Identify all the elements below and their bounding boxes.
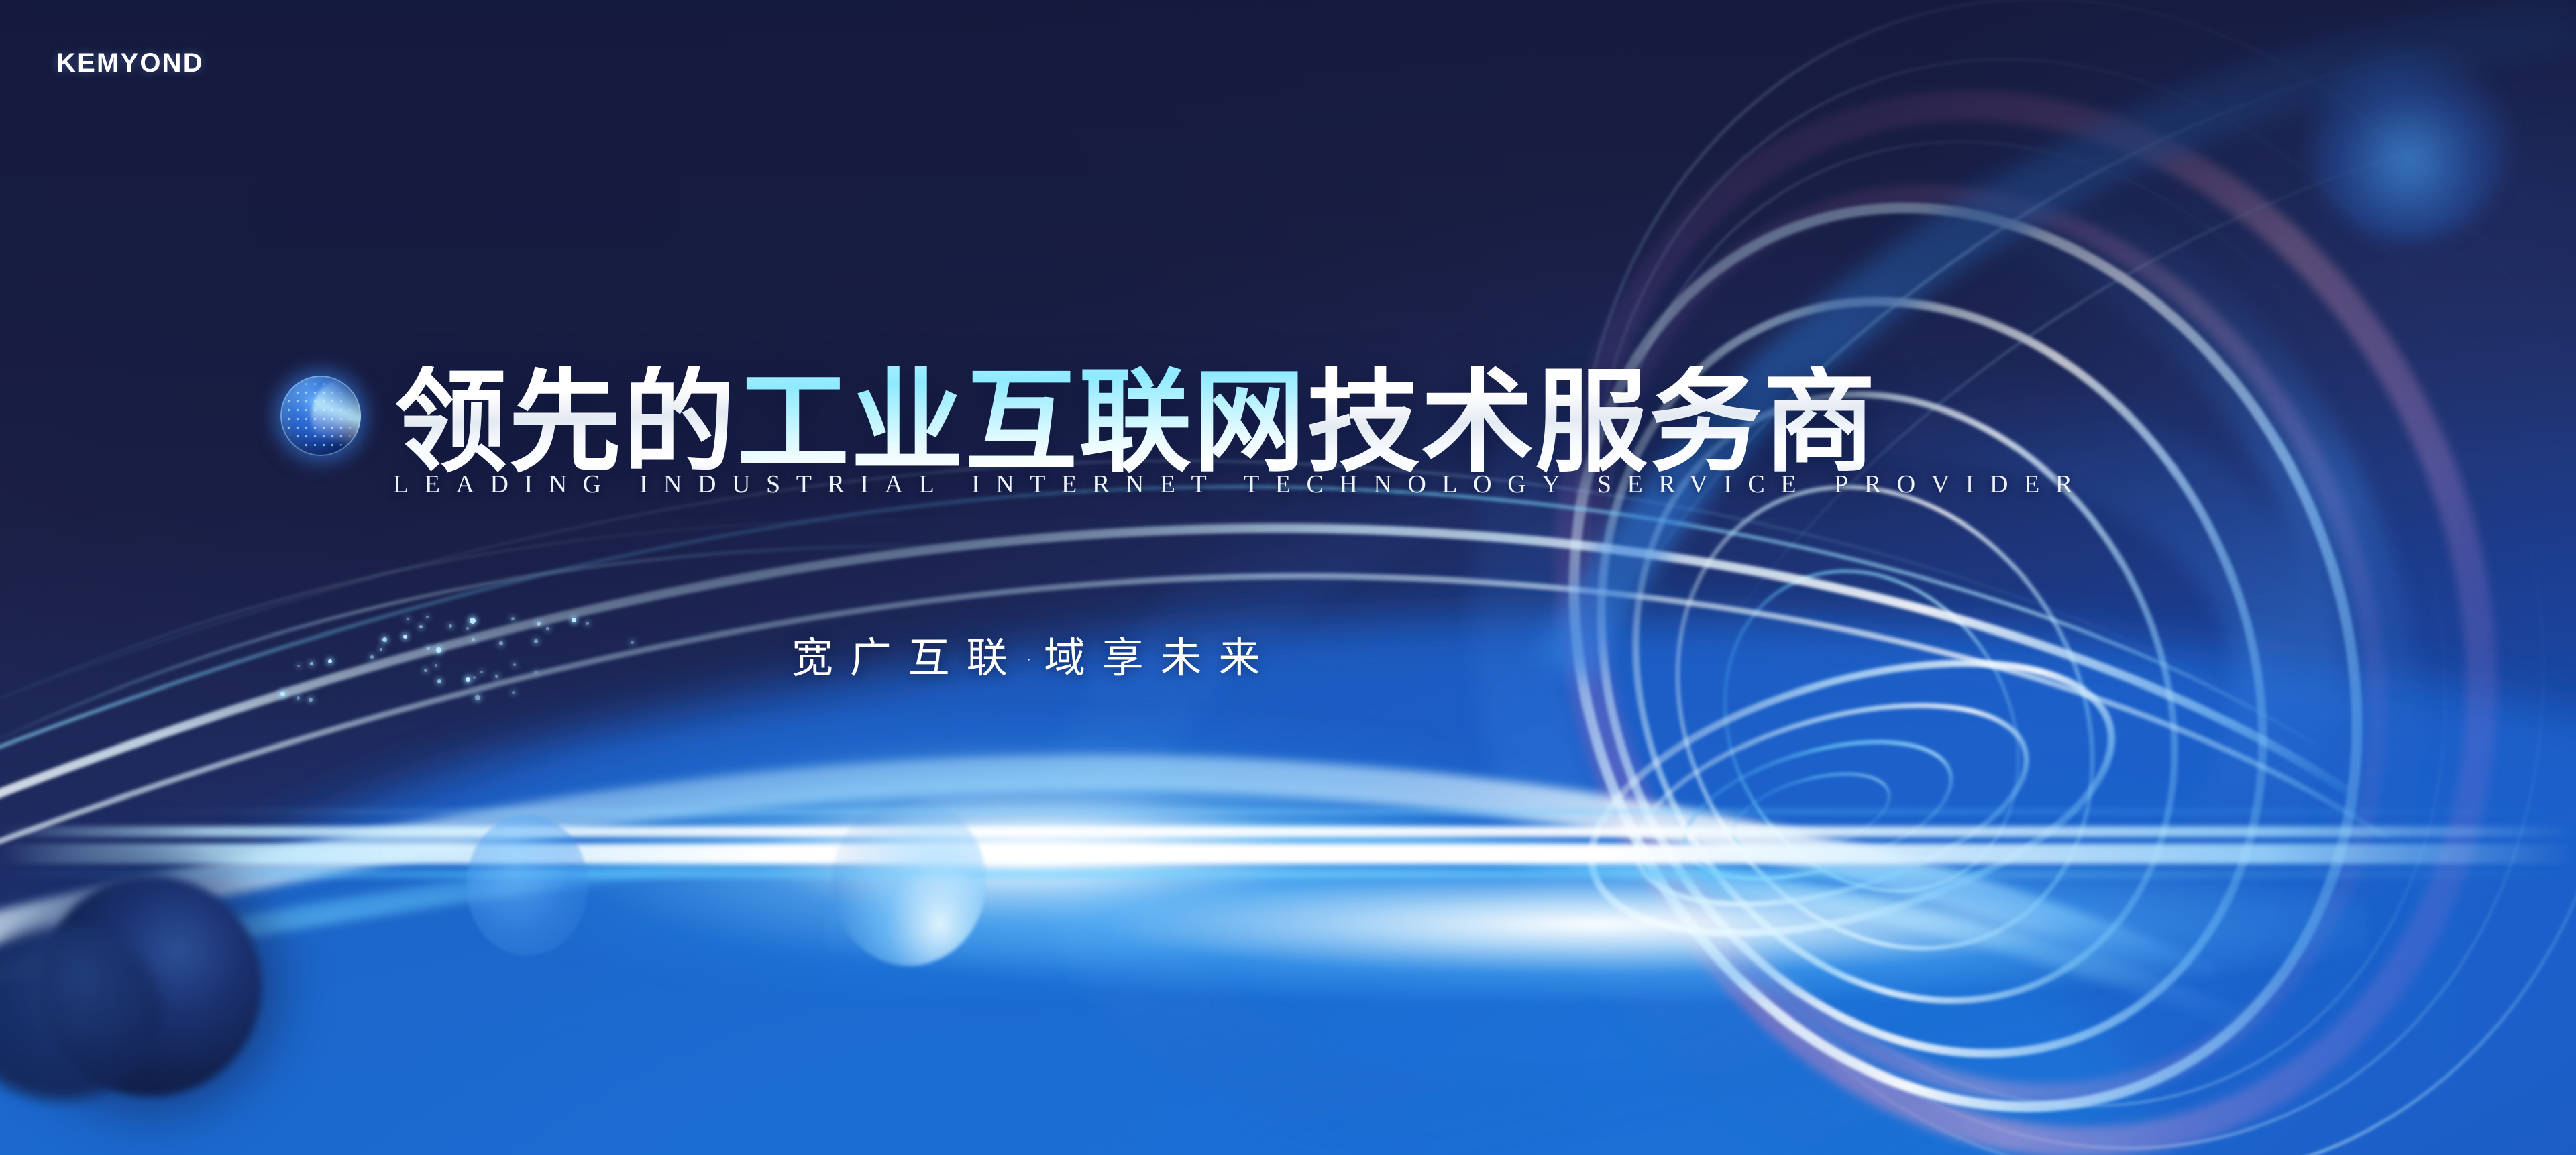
tagline: 宽广互联·域享未来 [792,624,1277,684]
light-ribbon-artwork [0,0,2576,1155]
core-light-glow [460,710,1601,999]
tagline-separator: · [1024,645,1044,675]
vignette-top [0,0,2576,1155]
decorative-orb-left [466,815,588,956]
light-streak-thin [0,826,2576,837]
dark-sphere-bottom-left [40,875,262,1097]
background-art [0,0,2576,1155]
dark-sphere-edge [0,926,161,1100]
headline-segment-white-1: 领先的 [394,366,737,478]
promotional-banner: KEMYOND 领先的工业互联网技术服务商 LEADING INDUSTRIAL… [0,0,2576,1155]
globe-rim [280,376,361,456]
tagline-left: 宽广互联 [792,633,1024,682]
tagline-right: 域享未来 [1044,633,1277,682]
core-light-glow-secondary [826,847,2369,1001]
headline-segment-white-2: 技术服务商 [1307,366,1877,478]
light-streak-lower [0,869,2576,879]
vignette-top-left [0,0,2576,1155]
brand-logo[interactable]: KEMYOND [56,48,204,78]
page-title: 领先的工业互联网技术服务商 [394,366,1877,478]
glow-orb-top-right [2308,40,2509,241]
globe-sphere-icon [280,376,361,456]
light-streak-upper [0,808,2576,815]
decorative-orb-center [832,798,986,966]
english-subtitle: LEADING INDUSTRIAL INTERNET TECHNOLOGY S… [393,470,2088,499]
light-streak-main [0,844,2576,864]
headline-segment-cyan: 工业互联网 [737,366,1307,478]
